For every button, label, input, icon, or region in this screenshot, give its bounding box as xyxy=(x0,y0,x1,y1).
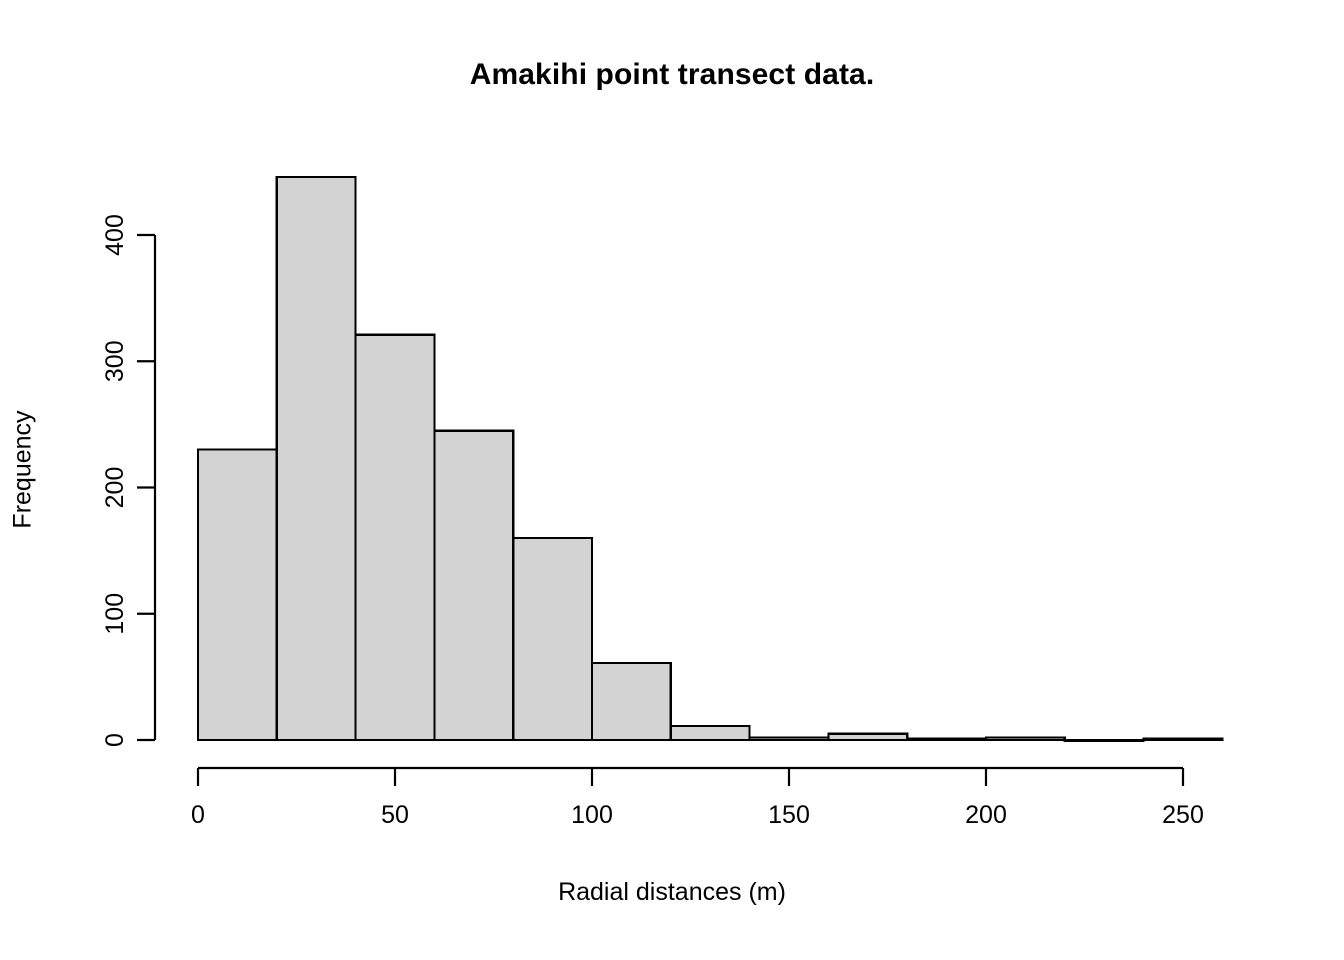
x-axis-label: Radial distances (m) xyxy=(0,878,1344,907)
y-axis-tick-label: 400 xyxy=(101,214,129,256)
histogram-bar xyxy=(592,663,671,740)
x-axis-tick-label: 0 xyxy=(191,801,205,829)
histogram-bar xyxy=(1144,739,1223,740)
x-axis-tick-label: 100 xyxy=(571,801,613,829)
histogram-bar xyxy=(198,450,277,740)
x-axis-tick-label: 150 xyxy=(768,801,810,829)
histogram-bar xyxy=(1065,740,1144,741)
x-axis: 050100150200250 xyxy=(191,768,1204,829)
x-axis-tick-label: 250 xyxy=(1162,801,1204,829)
histogram-bar xyxy=(750,737,829,740)
histogram-bar xyxy=(671,726,750,740)
histogram-bar xyxy=(356,335,435,740)
y-axis: 0100200300400 xyxy=(101,214,155,747)
chart-canvas: 050100150200250 0100200300400 xyxy=(0,0,1344,960)
histogram-bar xyxy=(907,739,986,740)
x-axis-tick-label: 50 xyxy=(381,801,409,829)
y-axis-tick-label: 200 xyxy=(101,467,129,509)
x-axis-tick-label: 200 xyxy=(965,801,1007,829)
y-axis-tick-label: 300 xyxy=(101,340,129,382)
histogram-plot: Amakihi point transect data. 05010015020… xyxy=(0,0,1344,960)
y-axis-tick-label: 0 xyxy=(101,733,129,747)
y-axis-tick-label: 100 xyxy=(101,593,129,635)
y-axis-label: Frequency xyxy=(9,330,38,610)
histogram-bar xyxy=(277,177,356,740)
bars-group xyxy=(198,177,1222,741)
histogram-bar xyxy=(434,431,513,740)
histogram-bar xyxy=(828,734,907,740)
histogram-bar xyxy=(513,538,592,740)
histogram-bar xyxy=(986,737,1065,740)
